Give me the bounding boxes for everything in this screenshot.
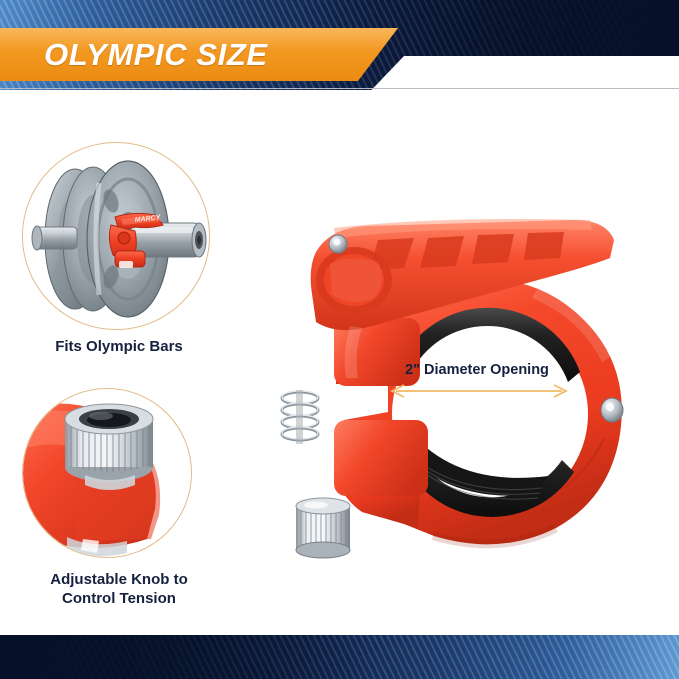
footer-stripe-fade (0, 635, 679, 679)
knob-closeup-photo (23, 389, 191, 557)
barbell-collar-illustration: MARCY (238, 176, 658, 588)
infographic-canvas: OLYMPIC SIZE (0, 0, 679, 679)
double-headed-arrow-icon (388, 384, 570, 398)
dimension-arrow (388, 384, 570, 398)
callout-label-fits-olympic-bars: Fits Olympic Bars (0, 337, 238, 356)
callout-label-line1: Adjustable Knob to (0, 570, 238, 589)
product-image-barbell-collar: MARCY (238, 176, 658, 588)
knob-closeup-illustration (23, 389, 191, 557)
callout-label-line2: Control Tension (0, 589, 238, 608)
footer-band (0, 635, 679, 679)
hinge-rivet (601, 398, 623, 422)
callout-image-fits-olympic-bars: MARCY (22, 142, 210, 330)
weight-plates-illustration: MARCY (23, 143, 209, 329)
callout-label-adjustable-knob: Adjustable Knob to Control Tension (0, 570, 238, 608)
page-title: OLYMPIC SIZE (44, 28, 384, 81)
tension-knob (296, 498, 350, 558)
weight-plate-photo: MARCY (23, 143, 209, 329)
callout-image-adjustable-knob (22, 388, 192, 558)
dimension-label: 2" Diameter Opening (392, 362, 562, 378)
header-bottom-rule (0, 88, 679, 89)
